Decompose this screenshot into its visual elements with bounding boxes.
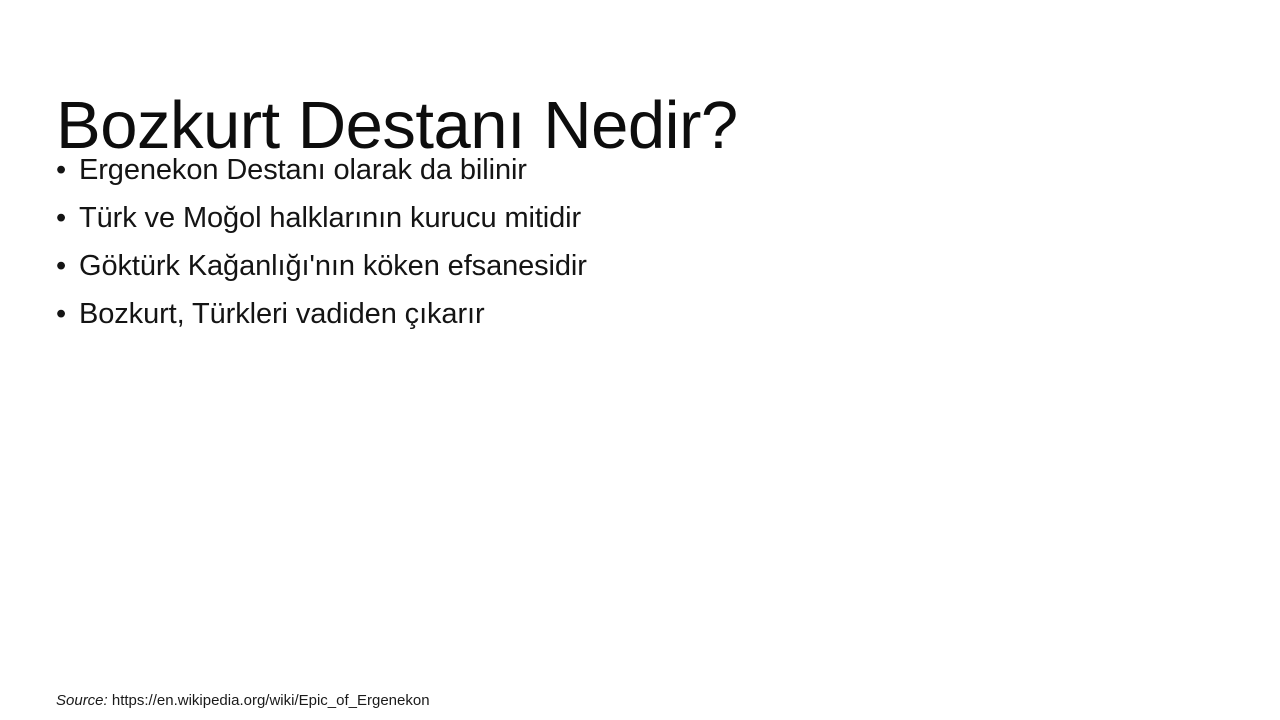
list-item-label: Göktürk Kağanlığı'nın köken efsanesidir — [79, 242, 587, 290]
list-item: • Bozkurt, Türkleri vadiden çıkarır — [56, 290, 1216, 338]
slide-canvas: Bozkurt Destanı Nedir? • Ergenekon Desta… — [0, 0, 1280, 720]
bullet-list: • Ergenekon Destanı olarak da bilinir • … — [56, 146, 1216, 338]
source-citation: Source: https://en.wikipedia.org/wiki/Ep… — [56, 690, 430, 712]
list-item-label: Türk ve Moğol halklarının kurucu mitidir — [79, 194, 581, 242]
bullet-dot-icon: • — [56, 146, 79, 194]
list-item-label: Bozkurt, Türkleri vadiden çıkarır — [79, 290, 485, 338]
bullet-dot-icon: • — [56, 242, 79, 290]
list-item: • Ergenekon Destanı olarak da bilinir — [56, 146, 1216, 194]
list-item: • Türk ve Moğol halklarının kurucu mitid… — [56, 194, 1216, 242]
bullet-dot-icon: • — [56, 290, 79, 338]
list-item-label: Ergenekon Destanı olarak da bilinir — [79, 146, 527, 194]
source-url[interactable]: https://en.wikipedia.org/wiki/Epic_of_Er… — [108, 692, 430, 709]
source-label: Source: — [56, 692, 108, 709]
list-item: • Göktürk Kağanlığı'nın köken efsanesidi… — [56, 242, 1216, 290]
bullet-dot-icon: • — [56, 194, 79, 242]
